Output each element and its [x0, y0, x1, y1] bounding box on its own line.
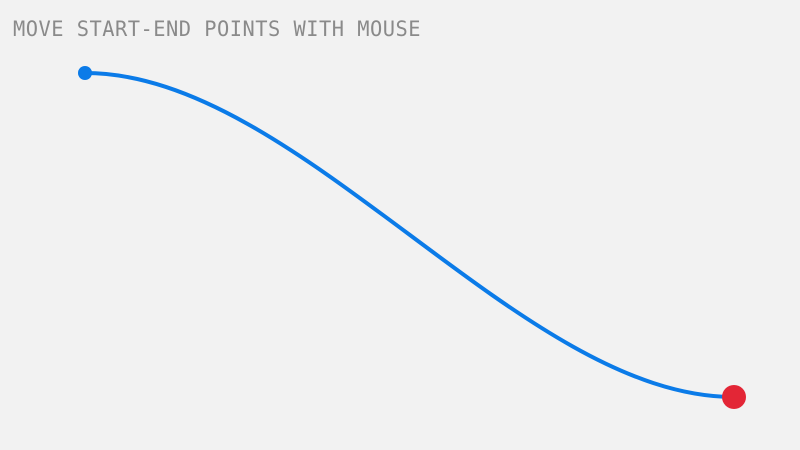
bezier-canvas-stage: MOVE START-END POINTS WITH MOUSE — [0, 0, 800, 450]
canvas-background — [0, 0, 800, 450]
end-point-handle[interactable] — [722, 385, 746, 409]
start-point-handle[interactable] — [78, 66, 92, 80]
bezier-curve-canvas[interactable] — [0, 0, 800, 450]
